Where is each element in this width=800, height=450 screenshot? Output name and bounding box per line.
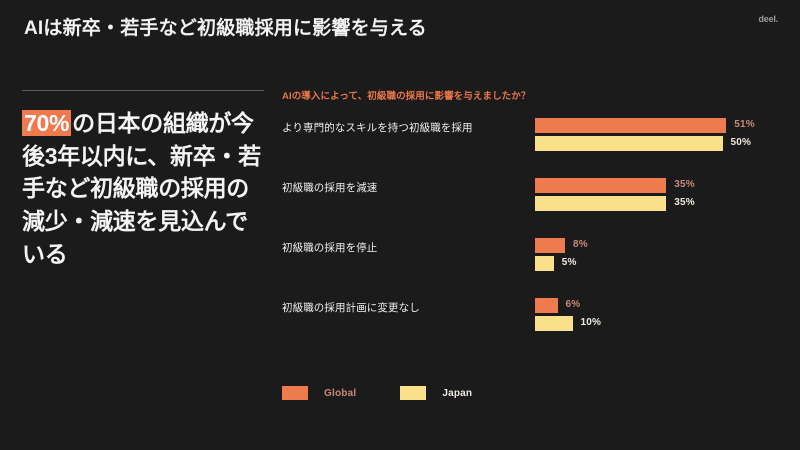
legend-swatch-icon [400, 386, 426, 400]
chart-bar-japan[interactable] [535, 256, 554, 271]
chart-bar-japan[interactable] [535, 196, 666, 211]
chart-bar-line: 8% [535, 238, 782, 253]
legend-label: Japan [442, 388, 472, 399]
chart-bar-line: 51% [535, 118, 782, 133]
chart-bar-line: 10% [535, 316, 782, 331]
statement-highlight-value: 70% [22, 110, 71, 136]
chart-legend: GlobalJapan [282, 386, 516, 400]
statement-text: 70%の日本の組織が今後3年以内に、新卒・若手など初級職の採用の減少・減速を見込… [22, 107, 266, 270]
chart-value-label: 51% [734, 119, 755, 130]
chart-panel: AIの導入によって、初級職の採用に影響を与えましたか？ より専門的なスキルを持つ… [282, 88, 782, 358]
chart-value-label: 10% [581, 317, 602, 328]
legend-entry-japan[interactable]: Japan [400, 386, 472, 400]
chart-value-label: 5% [562, 257, 577, 268]
chart-bar-global[interactable] [535, 178, 666, 193]
brand-logo: deel. [758, 14, 778, 24]
page-title: AIは新卒・若手など初級職採用に影響を与える [24, 13, 427, 40]
legend-swatch-icon [282, 386, 308, 400]
chart-bar-japan[interactable] [535, 316, 573, 331]
statement-divider [22, 90, 264, 91]
chart-group: より専門的なスキルを持つ初級職を採用51%50% [282, 118, 782, 164]
chart-bar-rows: より専門的なスキルを持つ初級職を採用51%50%初級職の採用を減速35%35%初… [282, 118, 782, 344]
chart-value-label: 35% [674, 197, 695, 208]
slide-header: AIは新卒・若手など初級職採用に影響を与える deel. [0, 0, 800, 52]
chart-category-label: 初級職の採用を減速 [282, 182, 530, 196]
chart-bar-line: 35% [535, 196, 782, 211]
chart-bar-line: 6% [535, 298, 782, 313]
statement-panel: 70%の日本の組織が今後3年以内に、新卒・若手など初級職の採用の減少・減速を見込… [22, 90, 266, 270]
chart-bars-area: 51%50% [535, 118, 782, 164]
chart-bars-area: 35%35% [535, 178, 782, 224]
legend-label: Global [324, 388, 356, 399]
legend-entry-global[interactable]: Global [282, 386, 356, 400]
chart-value-label: 8% [573, 239, 588, 250]
chart-bar-line: 35% [535, 178, 782, 193]
chart-group: 初級職の採用を減速35%35% [282, 178, 782, 224]
chart-bar-global[interactable] [535, 118, 726, 133]
chart-bar-line: 5% [535, 256, 782, 271]
chart-value-label: 50% [731, 137, 752, 148]
chart-value-label: 6% [566, 299, 581, 310]
chart-value-label: 35% [674, 179, 695, 190]
chart-group: 初級職の採用を停止8%5% [282, 238, 782, 284]
chart-category-label: 初級職の採用計画に変更なし [282, 302, 530, 316]
chart-bars-area: 6%10% [535, 298, 782, 344]
chart-category-label: 初級職の採用を停止 [282, 242, 530, 256]
chart-bar-line: 50% [535, 136, 782, 151]
chart-question-title: AIの導入によって、初級職の採用に影響を与えましたか？ [282, 88, 782, 102]
chart-bar-global[interactable] [535, 298, 558, 313]
chart-bar-japan[interactable] [535, 136, 723, 151]
chart-bars-area: 8%5% [535, 238, 782, 284]
chart-bar-global[interactable] [535, 238, 565, 253]
chart-group: 初級職の採用計画に変更なし6%10% [282, 298, 782, 344]
chart-category-label: より専門的なスキルを持つ初級職を採用 [282, 122, 530, 136]
